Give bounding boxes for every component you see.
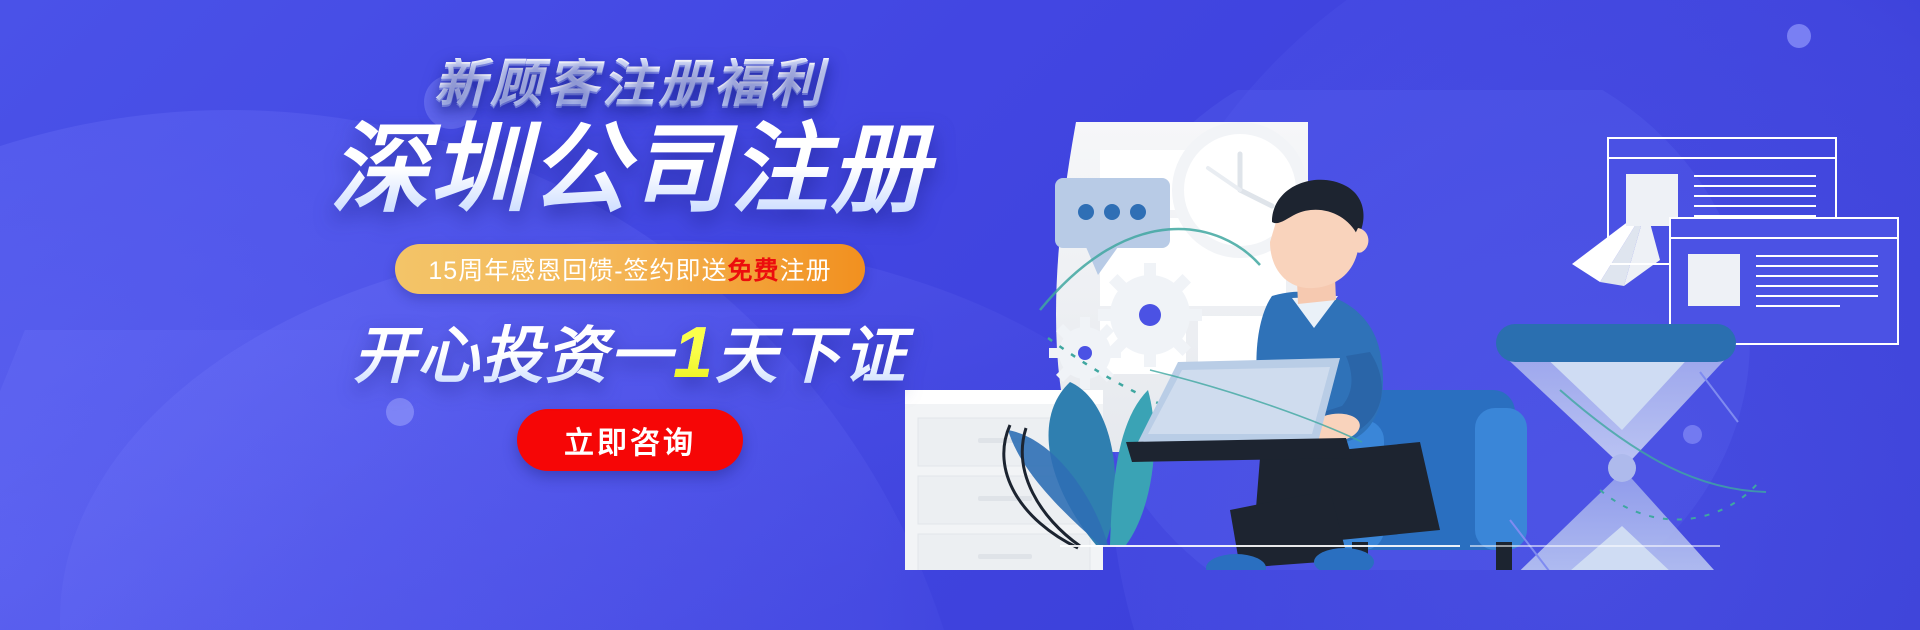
- promo-pill-text: 15周年感恩回馈-签约即送免费注册: [428, 251, 831, 287]
- main-headline: 深圳公司注册: [300, 118, 960, 222]
- promo-pill: 15周年感恩回馈-签约即送免费注册: [395, 244, 865, 294]
- eyebrow-headline: 新顾客注册福利: [300, 58, 960, 110]
- consult-now-button-label: 立即咨询: [564, 418, 696, 462]
- illustration-svg: [900, 90, 1920, 570]
- sub-headline-prefix: 开心投资一: [353, 322, 673, 391]
- promo-pill-suffix: 注册: [780, 257, 832, 285]
- promo-pill-prefix: 15周年感恩回馈-签约即送: [428, 257, 727, 285]
- sub-headline: 开心投资一1天下证: [300, 316, 960, 392]
- decor-dot-topright: [1787, 24, 1811, 48]
- promo-pill-highlight: 免费: [728, 257, 780, 285]
- promo-banner: 新顾客注册福利 深圳公司注册 15周年感恩回馈-签约即送免费注册 开心投资一1天…: [0, 0, 1920, 630]
- consult-now-button[interactable]: 立即咨询: [517, 409, 743, 471]
- copy-block: 新顾客注册福利 深圳公司注册 15周年感恩回馈-签约即送免费注册 开心投资一1天…: [300, 40, 960, 471]
- floor-line: [1060, 545, 1460, 547]
- sub-headline-suffix: 天下证: [715, 322, 907, 391]
- sub-headline-number: 1: [673, 313, 715, 393]
- illustration: [900, 90, 1920, 570]
- floor-line-right: [1470, 545, 1720, 547]
